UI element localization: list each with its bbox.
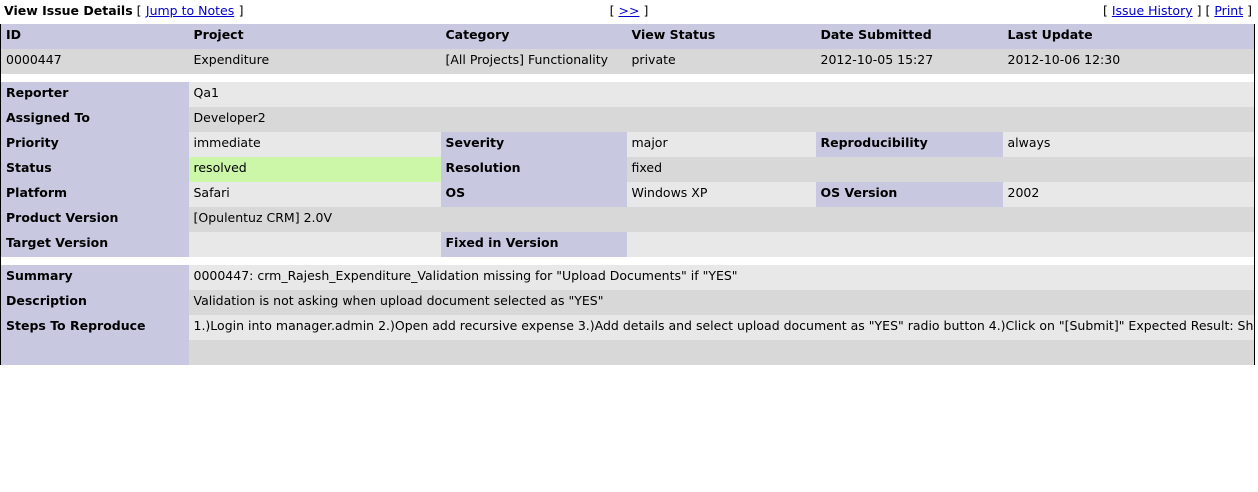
value-platform: Safari [189, 182, 441, 207]
row-product-version: Product Version [Opulentuz CRM] 2.0V [1, 207, 1255, 232]
label-status: Status [1, 157, 189, 182]
value-assigned-to: Developer2 [189, 107, 441, 132]
print-link[interactable]: Print [1214, 3, 1243, 18]
row-reporter: Reporter Qa1 [1, 82, 1255, 107]
next-issue-link[interactable]: >> [619, 3, 640, 18]
column-header-view-status: View Status [627, 24, 816, 49]
row-steps-to-reproduce: Steps To Reproduce 1.)Login into manager… [1, 315, 1255, 340]
value-resolution: fixed [627, 157, 816, 182]
label-platform: Platform [1, 182, 189, 207]
cell-last-update: 2012-10-06 12:30 [1003, 49, 1255, 74]
value-description: Validation is not asking when upload doc… [189, 290, 1255, 315]
row-status: Status resolved Resolution fixed [1, 157, 1255, 182]
cell-project: Expenditure [189, 49, 441, 74]
label-assigned-to: Assigned To [1, 107, 189, 132]
view-issue-details-page: View Issue Details [ Jump to Notes ] [ >… [0, 0, 1258, 492]
cell-date-submitted: 2012-10-05 15:27 [816, 49, 1003, 74]
page-actions: [ Issue History ] [ Print ] [1103, 3, 1252, 18]
value-additional-information [189, 340, 1255, 365]
value-fixed-in-version [627, 232, 816, 257]
bracket-close-print: ] [1247, 3, 1252, 18]
bracket-close-history: ] [1197, 3, 1202, 18]
row-priority: Priority immediate Severity major Reprod… [1, 132, 1255, 157]
page-toolbar: View Issue Details [ Jump to Notes ] [ >… [0, 0, 1258, 24]
row-description: Description Validation is not asking whe… [1, 290, 1255, 315]
column-header-date-submitted: Date Submitted [816, 24, 1003, 49]
label-priority: Priority [1, 132, 189, 157]
label-os-version: OS Version [816, 182, 1003, 207]
cell-id: 0000447 [1, 49, 189, 74]
cell-category: [All Projects] Functionality [441, 49, 627, 74]
issue-details-table: ID Project Category View Status Date Sub… [0, 24, 1255, 365]
issue-summary-row: 0000447 Expenditure [All Projects] Funct… [1, 49, 1255, 74]
cell-view-status: private [627, 49, 816, 74]
row-summary: Summary 0000447: crm_Rajesh_Expenditure_… [1, 265, 1255, 290]
value-summary: 0000447: crm_Rajesh_Expenditure_Validati… [189, 265, 1255, 290]
label-severity: Severity [441, 132, 627, 157]
next-issue-nav: [ >> ] [0, 3, 1258, 18]
label-fixed-in-version: Fixed in Version [441, 232, 627, 257]
issue-history-link[interactable]: Issue History [1112, 3, 1193, 18]
row-target-version-filler [816, 232, 1255, 257]
column-header-last-update: Last Update [1003, 24, 1255, 49]
spacer-row-1 [1, 74, 1255, 82]
value-os-version: 2002 [1003, 182, 1255, 207]
bracket-open-history: [ [1103, 3, 1108, 18]
row-reporter-filler [441, 82, 1255, 107]
row-target-version: Target Version Fixed in Version [1, 232, 1255, 257]
bracket-close-next: ] [643, 3, 648, 18]
label-reporter: Reporter [1, 82, 189, 107]
value-product-version: [Opulentuz CRM] 2.0V [189, 207, 441, 232]
value-steps-to-reproduce: 1.)Login into manager.admin 2.)Open add … [189, 315, 1255, 340]
row-additional-information [1, 340, 1255, 365]
label-product-version: Product Version [1, 207, 189, 232]
value-reporter: Qa1 [189, 82, 441, 107]
value-reproducibility: always [1003, 132, 1255, 157]
label-additional-information [1, 340, 189, 365]
spacer-row-2 [1, 257, 1255, 265]
label-target-version: Target Version [1, 232, 189, 257]
value-status: resolved [189, 157, 441, 182]
label-reproducibility: Reproducibility [816, 132, 1003, 157]
value-os: Windows XP [627, 182, 816, 207]
bracket-open-next: [ [610, 3, 615, 18]
label-resolution: Resolution [441, 157, 627, 182]
row-assigned-to: Assigned To Developer2 [1, 107, 1255, 132]
row-status-filler [816, 157, 1255, 182]
label-description: Description [1, 290, 189, 315]
bracket-open-print: [ [1205, 3, 1210, 18]
column-header-category: Category [441, 24, 627, 49]
value-target-version [189, 232, 441, 257]
column-header-project: Project [189, 24, 441, 49]
label-summary: Summary [1, 265, 189, 290]
row-product-version-filler [441, 207, 1255, 232]
row-assigned-to-filler [441, 107, 1255, 132]
table-header-row: ID Project Category View Status Date Sub… [1, 24, 1255, 49]
value-severity: major [627, 132, 816, 157]
label-steps-to-reproduce: Steps To Reproduce [1, 315, 189, 340]
value-priority: immediate [189, 132, 441, 157]
column-header-id: ID [1, 24, 189, 49]
row-platform: Platform Safari OS Windows XP OS Version… [1, 182, 1255, 207]
label-os: OS [441, 182, 627, 207]
